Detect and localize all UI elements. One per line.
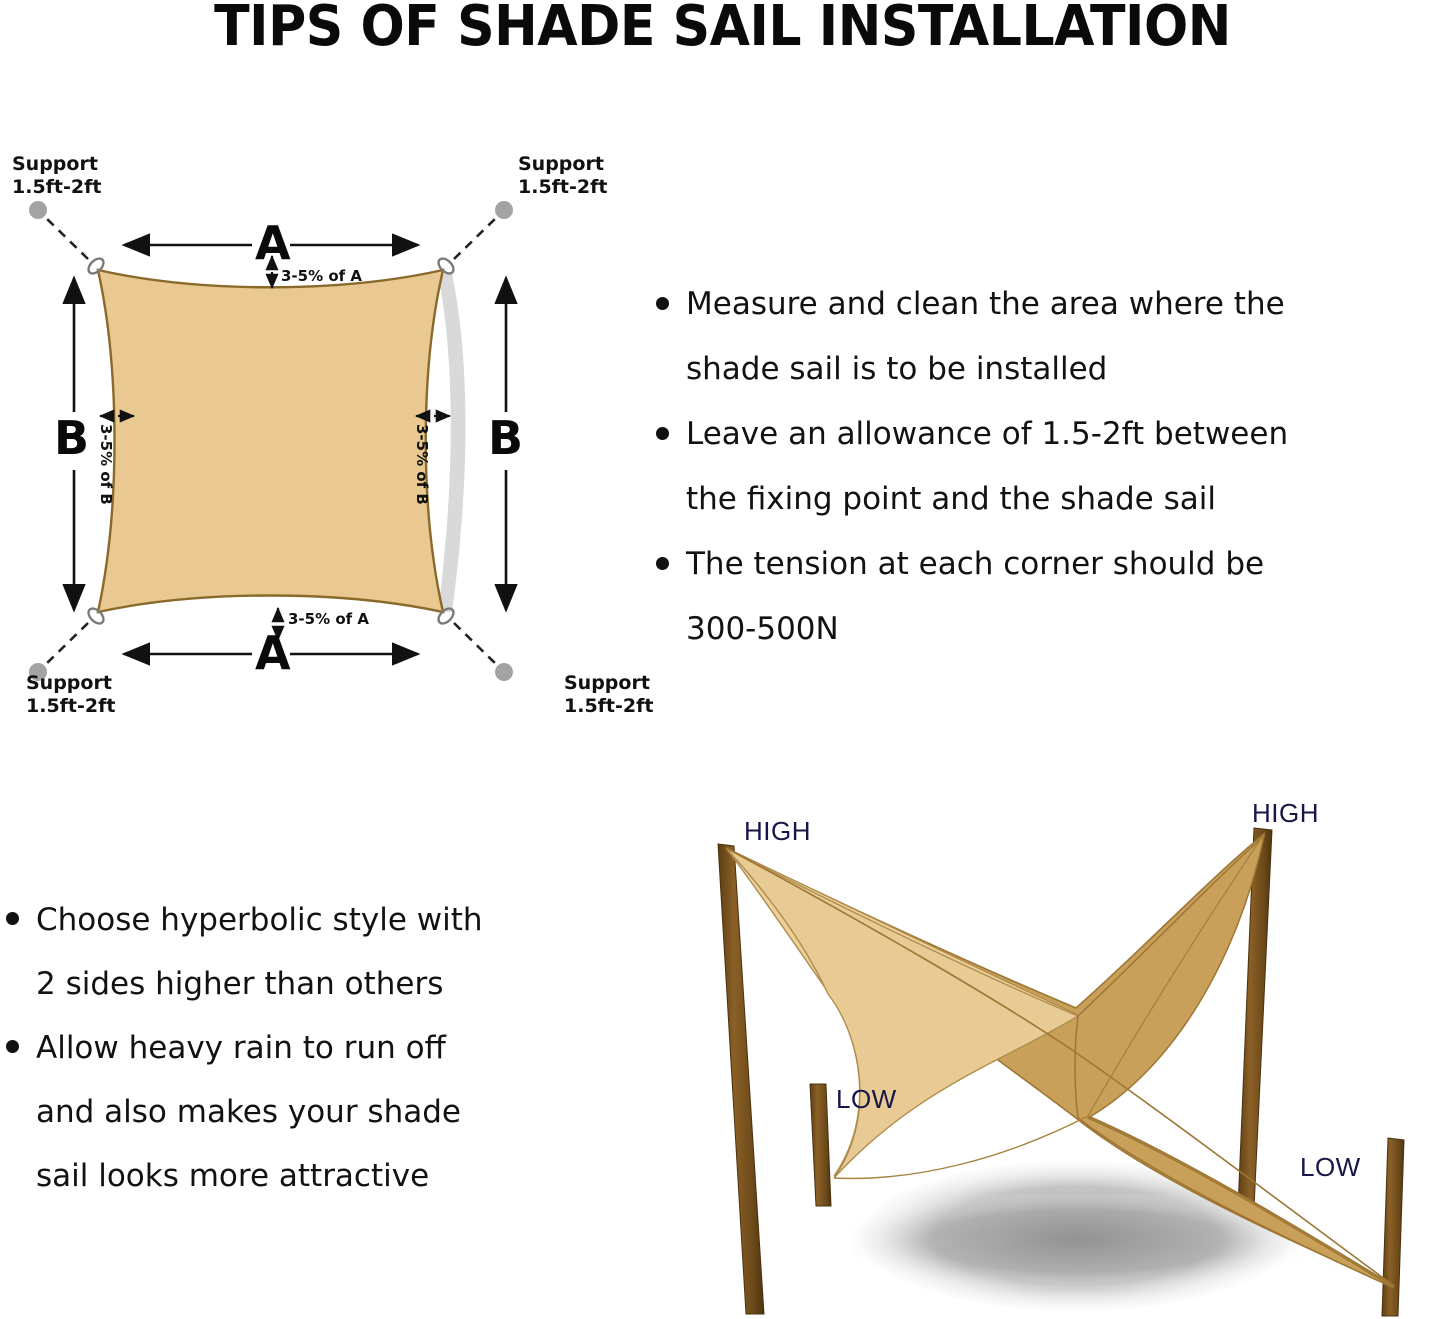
infographic-page: TIPS OF SHADE SAIL INSTALLATION: [0, 0, 1445, 1319]
support-text-line1: Support: [26, 672, 115, 695]
support-label-top-right: Support 1.5ft-2ft: [518, 153, 607, 199]
dim-letter-left-b: B: [54, 415, 89, 461]
list-item-line: 300-500N: [686, 597, 1264, 662]
list-item: The tension at each corner should be 300…: [656, 532, 1445, 662]
list-item-line: the fixing point and the shade sail: [686, 467, 1288, 532]
sail-surface-front-lower: [726, 848, 1078, 1178]
support-text-line2: 1.5ft-2ft: [564, 695, 653, 718]
bullet-dot-icon: [6, 912, 19, 925]
list-item-line: The tension at each corner should be: [686, 532, 1264, 597]
dim-letter-top-a: A: [255, 220, 291, 266]
pole-back-left-high: [718, 844, 764, 1314]
sag-label-bottom: 3-5% of A: [288, 612, 369, 627]
hyperbolic-sail-svg: [676, 786, 1445, 1319]
page-title: TIPS OF SHADE SAIL INSTALLATION: [51, 0, 1395, 58]
shade-sail-shape: [98, 270, 443, 612]
label-high-back-left: HIGH: [744, 818, 811, 844]
tips-list-left: Choose hyperbolic style with 2 sides hig…: [6, 888, 626, 1208]
sail-edge-shadow: [438, 274, 466, 612]
support-text-line1: Support: [12, 153, 101, 176]
dim-letter-bottom-a: A: [255, 630, 291, 676]
list-item-line: shade sail is to be installed: [686, 337, 1285, 402]
list-item-text: Choose hyperbolic style with 2 sides hig…: [36, 888, 483, 1016]
hyperbolic-sail-illustration: HIGH HIGH LOW LOW: [676, 786, 1445, 1319]
sag-label-right: 3-5% of B: [414, 424, 429, 505]
list-item-line: and also makes your shade: [36, 1080, 461, 1144]
list-item-text: Leave an allowance of 1.5-2ft between th…: [686, 402, 1288, 532]
list-item-text: Measure and clean the area where the sha…: [686, 272, 1285, 402]
bullet-dot-icon: [6, 1040, 19, 1053]
support-text-line2: 1.5ft-2ft: [518, 176, 607, 199]
pole-front-left-low: [810, 1084, 831, 1206]
support-text-line1: Support: [564, 672, 653, 695]
list-item: Measure and clean the area where the sha…: [656, 272, 1445, 402]
list-item-line: sail looks more attractive: [36, 1144, 461, 1208]
support-label-top-left: Support 1.5ft-2ft: [12, 153, 101, 199]
list-item-text: The tension at each corner should be 300…: [686, 532, 1264, 662]
pole-front-right-low: [1382, 1138, 1404, 1316]
label-low-front-left: LOW: [836, 1086, 897, 1112]
support-text-line2: 1.5ft-2ft: [26, 695, 115, 718]
support-label-bottom-right: Support 1.5ft-2ft: [564, 672, 653, 718]
bullet-dot-icon: [656, 297, 669, 310]
list-item-line: 2 sides higher than others: [36, 952, 483, 1016]
bullet-dot-icon: [656, 557, 669, 570]
list-item-text: Allow heavy rain to run off and also mak…: [36, 1016, 461, 1208]
tips-list-right: Measure and clean the area where the sha…: [656, 272, 1445, 662]
support-label-bottom-left: Support 1.5ft-2ft: [26, 672, 115, 718]
list-item-line: Leave an allowance of 1.5-2ft between: [686, 402, 1288, 467]
label-low-front-right: LOW: [1300, 1154, 1361, 1180]
bullet-dot-icon: [656, 427, 669, 440]
list-item: Choose hyperbolic style with 2 sides hig…: [6, 888, 626, 1016]
support-text-line1: Support: [518, 153, 607, 176]
sag-label-top: 3-5% of A: [281, 269, 362, 284]
list-item: Leave an allowance of 1.5-2ft between th…: [656, 402, 1445, 532]
list-item-line: Choose hyperbolic style with: [36, 888, 483, 952]
support-text-line2: 1.5ft-2ft: [12, 176, 101, 199]
list-item: Allow heavy rain to run off and also mak…: [6, 1016, 626, 1208]
sag-label-left: 3-5% of B: [98, 424, 113, 505]
list-item-line: Allow heavy rain to run off: [36, 1016, 461, 1080]
rect-sail-diagram: A A B B 3-5% of A 3-5% of A 3-5% of B 3-…: [0, 160, 660, 730]
list-item-line: Measure and clean the area where the: [686, 272, 1285, 337]
dim-letter-right-b: B: [488, 415, 523, 461]
label-high-back-right: HIGH: [1252, 800, 1319, 826]
